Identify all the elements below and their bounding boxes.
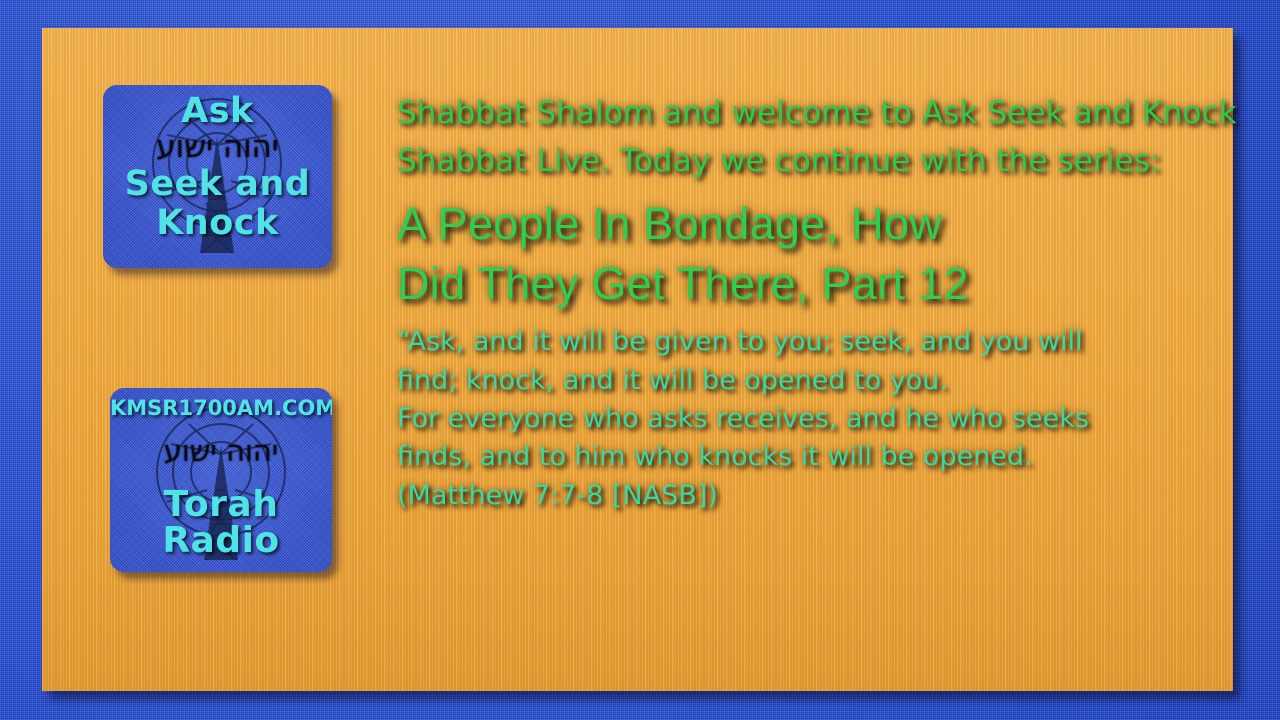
scripture-quote-line-4: finds, and to him who knocks it will be … [397,438,1267,476]
scripture-quote-line-2: find; knock, and it will be opened to yo… [397,362,1267,400]
logo-torah-line-3: Torah Radio [110,419,332,559]
series-title-line-2: Did They Get There, Part 12 [397,254,1267,313]
scripture-quote-line-1: “Ask, and it will be given to you; seek,… [397,323,1267,361]
text-column: Shabbat Shalom and welcome to Ask Seek a… [397,90,1267,515]
ask-seek-knock-logo[interactable]: Ask יהוה ישוע Seek and Knock [103,85,332,268]
scripture-quote: “Ask, and it will be given to you; seek,… [397,323,1267,515]
logo-ask-line-3: Seek and [103,129,332,202]
logo-ask-line-1: Ask [103,85,332,129]
torah-radio-logo[interactable]: KMSR1700AM.COM יהוה ישוע Torah Radio [110,388,332,572]
scripture-quote-line-3: For everyone who asks receives, and he w… [397,400,1267,438]
intro-paragraph: Shabbat Shalom and welcome to Ask Seek a… [397,90,1267,185]
logo-ask-line-4: Knock [103,202,332,241]
orange-content-panel: Ask יהוה ישוע Seek and Knock [42,28,1233,691]
logo-torah-line-1: KMSR1700AM.COM [110,388,332,419]
series-title: A People In Bondage, How Did They Get Th… [397,194,1267,313]
series-title-line-1: A People In Bondage, How [397,194,1267,253]
scripture-citation: (Matthew 7:7-8 [NASB]) [397,477,1267,515]
slide-canvas: Ask יהוה ישוע Seek and Knock [0,0,1280,720]
